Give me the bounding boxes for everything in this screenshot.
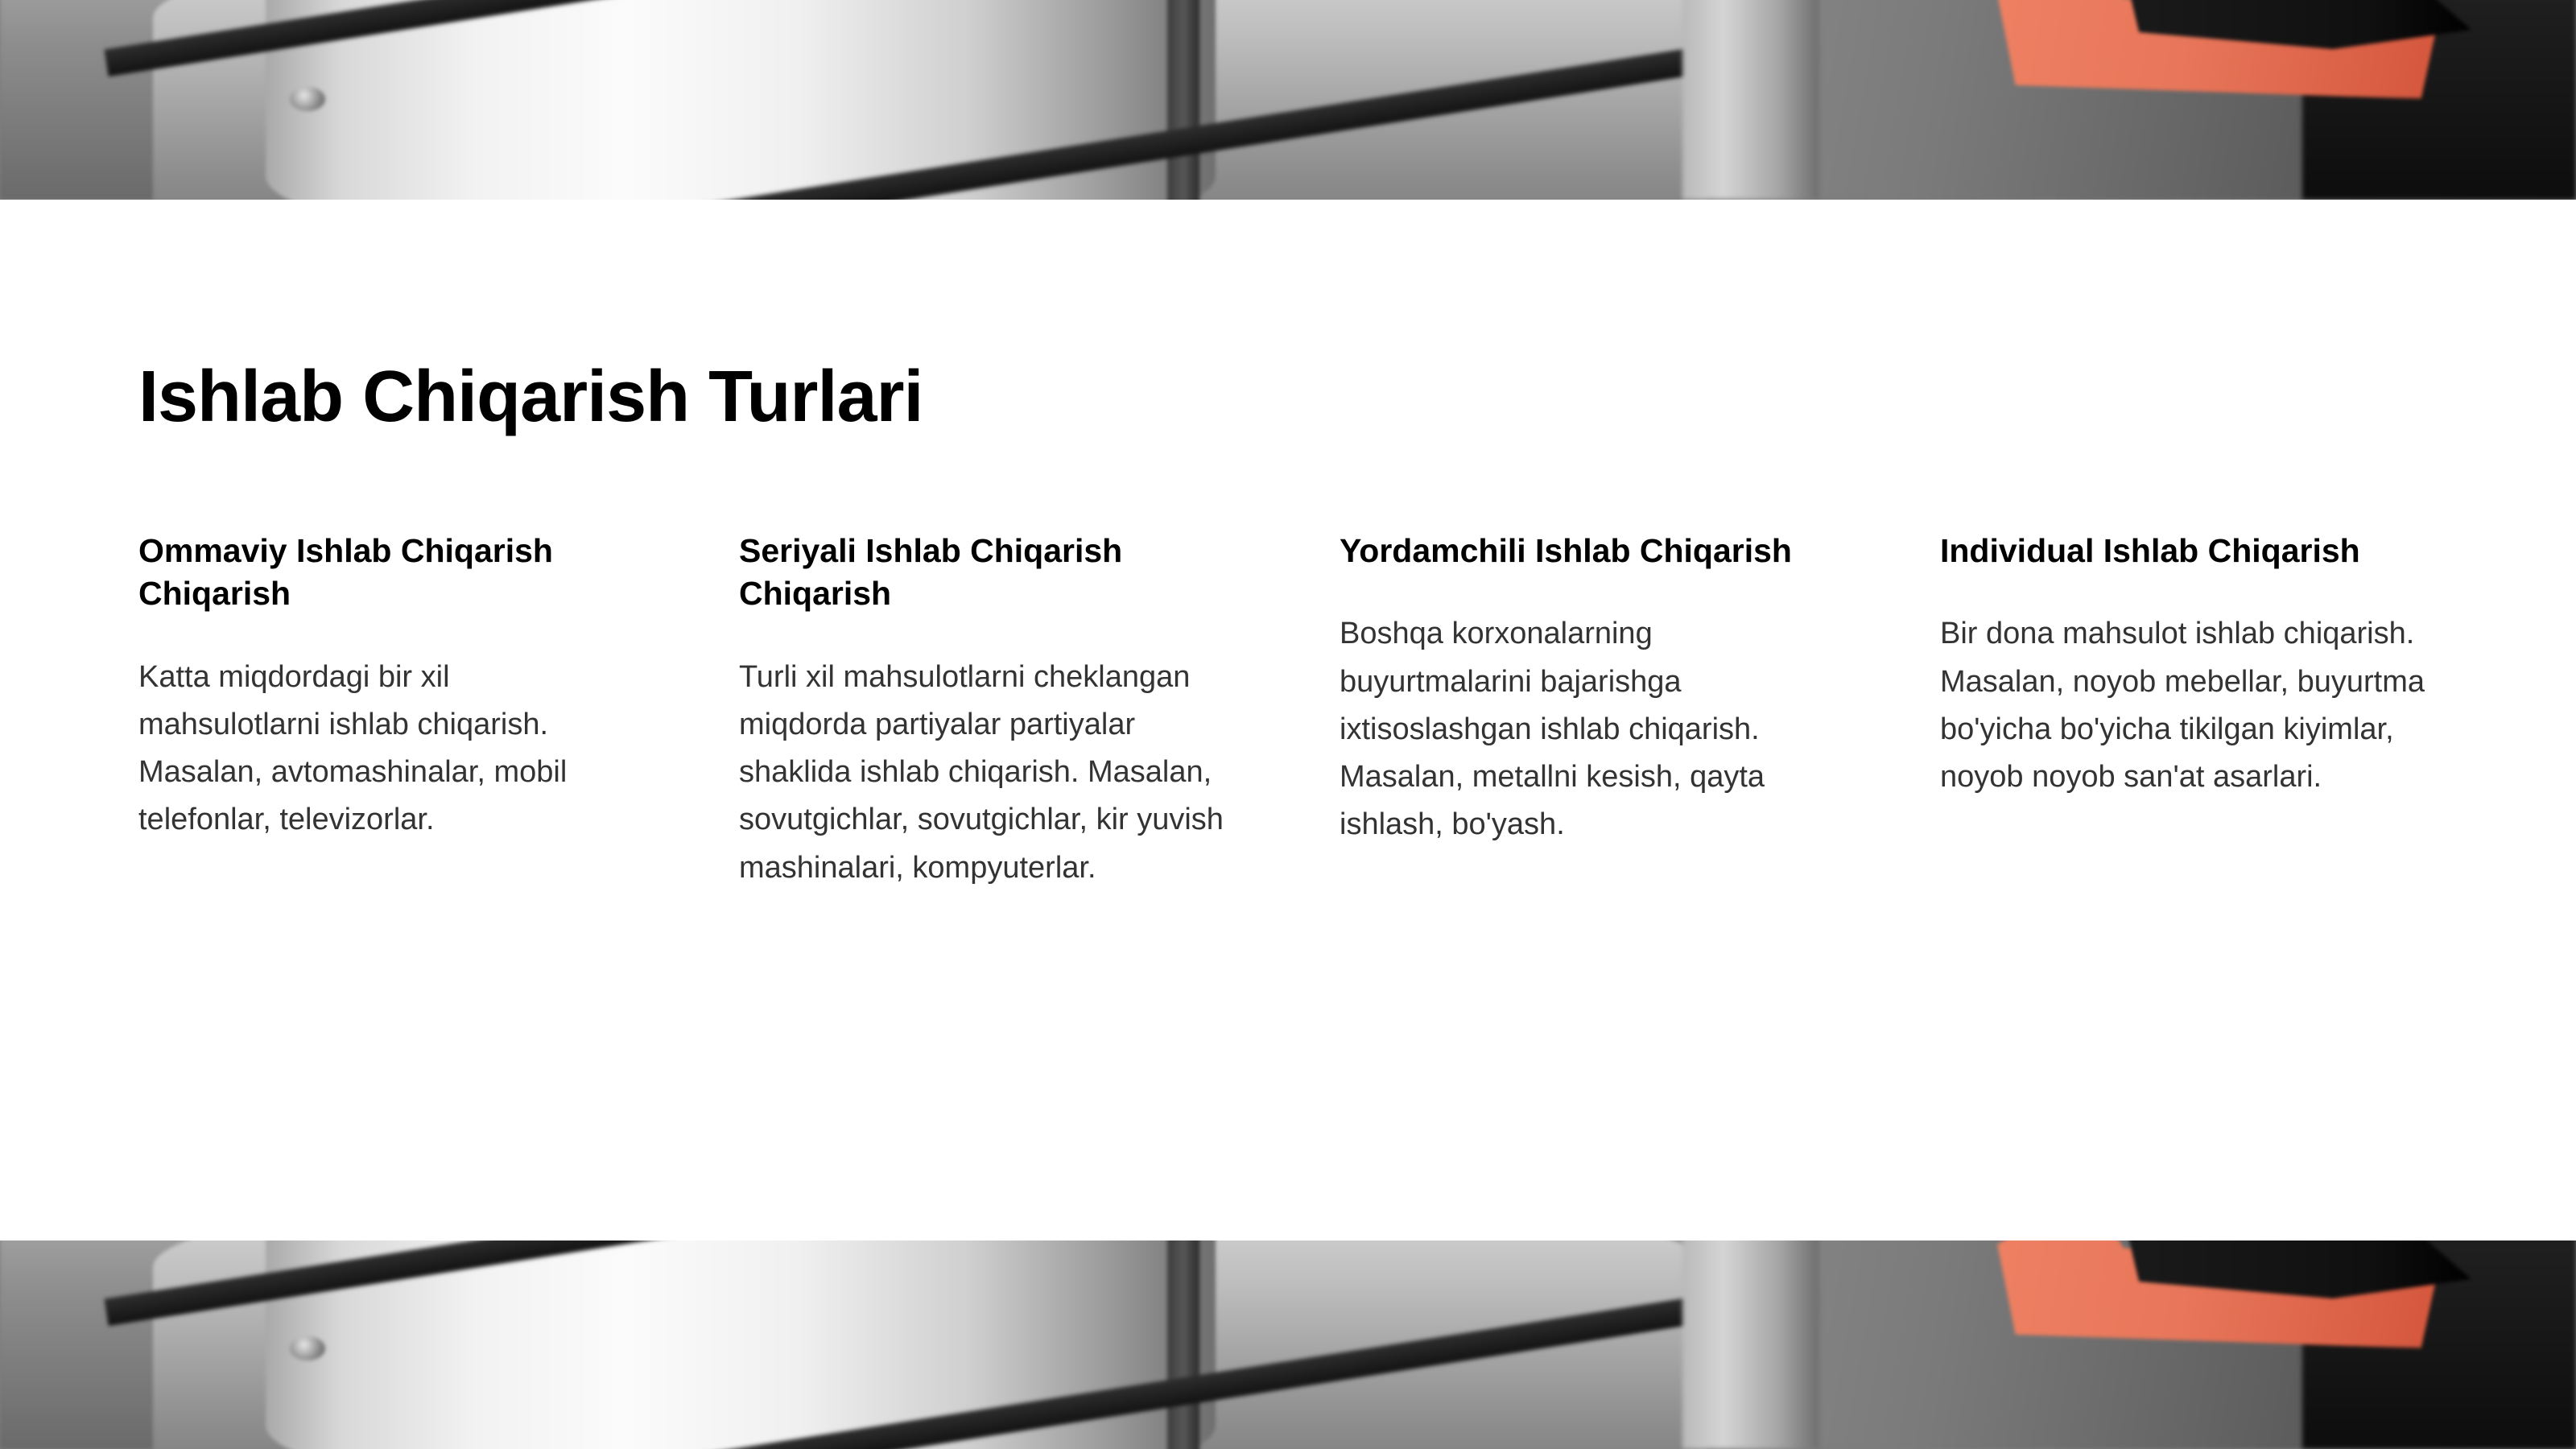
cnc-machine-scene (0, 1241, 2576, 1449)
column-heading: Individual Ishlab Chiqarish (1940, 530, 2439, 572)
column-heading: Yordamchili Ishlab Chiqarish (1340, 530, 1839, 572)
machine-bolt (290, 1336, 325, 1360)
column-ommaviy-ishlab-chiqarish: Ommaviy Ishlab Chiqarish Chiqarish Katta… (138, 530, 638, 892)
cylinder-edge (1167, 0, 1199, 200)
column-body: Boshqa korxonalarning buyurtmalarini baj… (1340, 610, 1839, 848)
top-banner-image (0, 0, 2576, 200)
column-yordamchili-ishlab-chiqarish: Yordamchili Ishlab Chiqarish Boshqa korx… (1340, 530, 1839, 892)
machine-pillar (1682, 1241, 1819, 1449)
column-individual-ishlab-chiqarish: Individual Ishlab Chiqarish Bir dona mah… (1940, 530, 2439, 892)
column-body: Bir dona mahsulot ishlab chiqarish. Masa… (1940, 610, 2439, 801)
column-heading: Seriyali Ishlab Chiqarish Chiqarish (739, 530, 1238, 616)
page-title: Ishlab Chiqarish Turlari (138, 359, 923, 436)
column-body: Katta miqdordagi bir xil mahsulotlarni i… (138, 654, 638, 844)
cylinder-edge (1167, 1241, 1199, 1449)
column-heading: Ommaviy Ishlab Chiqarish Chiqarish (138, 530, 638, 616)
production-types-columns: Ommaviy Ishlab Chiqarish Chiqarish Katta… (138, 530, 2473, 892)
column-body: Turli xil mahsulotlarni cheklangan miqdo… (739, 654, 1238, 892)
cnc-machine-scene (0, 0, 2576, 200)
slide-content: Ishlab Chiqarish Turlari Ommaviy Ishlab … (0, 200, 2576, 1241)
column-seriyali-ishlab-chiqarish: Seriyali Ishlab Chiqarish Chiqarish Turl… (739, 530, 1238, 892)
bottom-banner-image (0, 1241, 2576, 1449)
machine-pillar (1682, 0, 1819, 200)
machine-bolt (290, 87, 325, 111)
slide-root: Ishlab Chiqarish Turlari Ommaviy Ishlab … (0, 0, 2576, 1449)
